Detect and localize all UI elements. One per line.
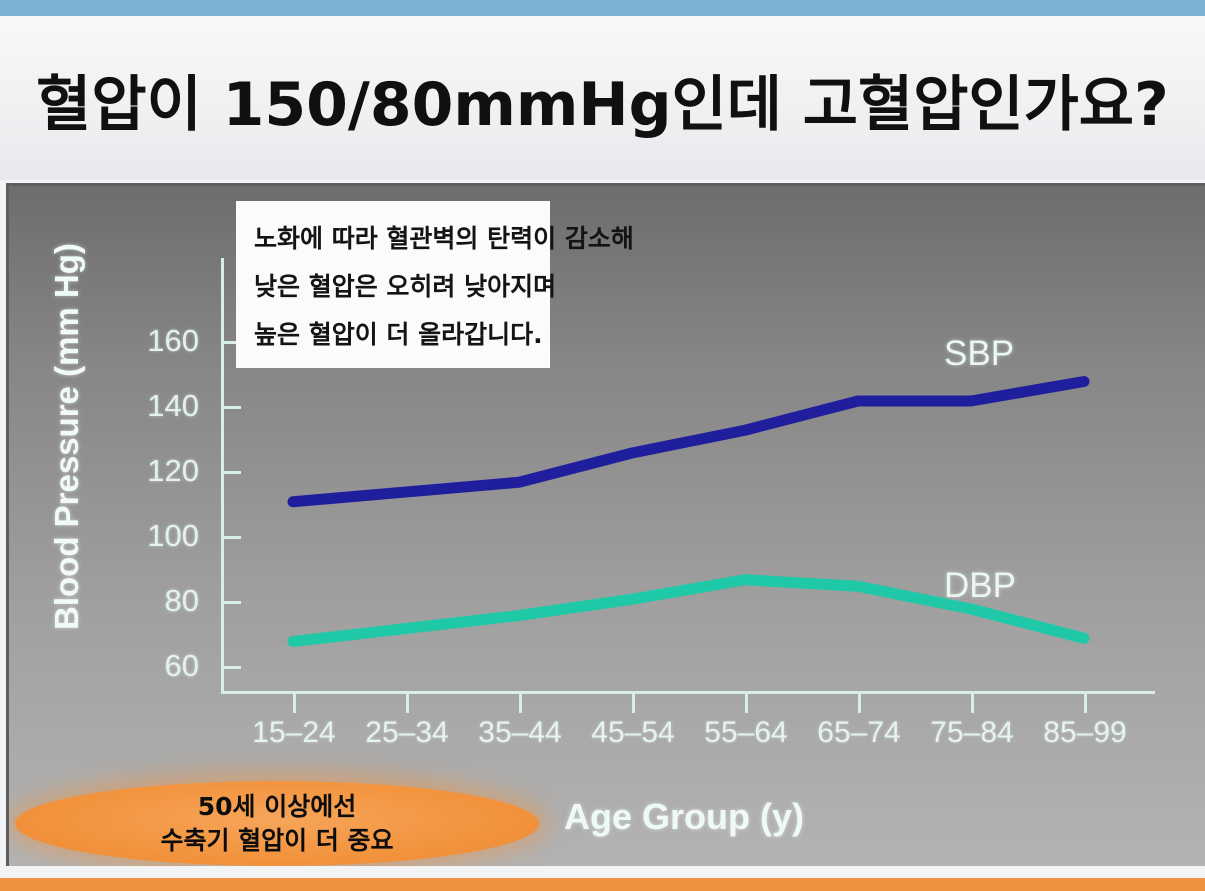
callout-text: 50세 이상에선 수축기 혈압이 더 중요 <box>15 781 539 866</box>
chart-series-layer <box>9 186 1205 866</box>
callout-line-1: 50세 이상에선 <box>198 790 357 824</box>
slide: 혈압이 150/80mmHg인데 고혈압인가요? Blood Pressure … <box>0 0 1205 891</box>
top-accent-bar <box>0 0 1205 16</box>
page-title: 혈압이 150/80mmHg인데 고혈압인가요? <box>0 56 1205 143</box>
series-line-sbp <box>293 382 1084 502</box>
callout-line-2: 수축기 혈압이 더 중요 <box>160 824 393 858</box>
bottom-accent-bar <box>0 878 1205 891</box>
annotation-line-1: 노화에 따라 혈관벽의 탄력이 감소해 <box>254 215 534 263</box>
series-label-dbp: DBP <box>944 566 1016 606</box>
x-axis-title: Age Group (y) <box>564 796 804 838</box>
series-label-sbp: SBP <box>944 334 1014 374</box>
annotation-box: 노화에 따라 혈관벽의 탄력이 감소해 낮은 혈압은 오히려 낮아지며 높은 혈… <box>236 201 550 368</box>
annotation-line-2: 낮은 혈압은 오히려 낮아지며 <box>254 263 534 311</box>
slide-header: 혈압이 150/80mmHg인데 고혈압인가요? <box>0 16 1205 180</box>
chart-area: Blood Pressure (mm Hg) 160 140 120 100 8… <box>9 186 1205 866</box>
chart-panel: Blood Pressure (mm Hg) 160 140 120 100 8… <box>6 183 1205 866</box>
annotation-line-3: 높은 혈압이 더 올라갑니다. <box>254 311 534 359</box>
